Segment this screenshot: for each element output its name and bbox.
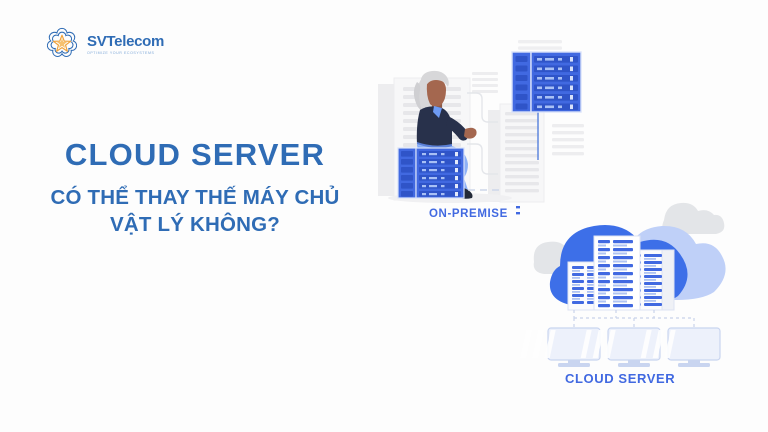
page-title: CLOUD SERVER [0,138,390,172]
cloud-server-caption: CLOUD SERVER [565,371,675,386]
grey-server-cabinet-right [488,104,544,202]
client-monitors [521,328,720,367]
subtitle-line-1: CÓ THỂ THAY THẾ MÁY CHỦ [0,184,390,211]
floating-blue-server-rack [512,52,581,112]
subtitle-line-2: VẬT LÝ KHÔNG? [0,211,390,238]
cloud-server-illustration [516,192,752,367]
cloud-server-rack-center [594,236,640,310]
hero-text-block: CLOUD SERVER CÓ THỂ THAY THẾ MÁY CHỦ VẬT… [0,138,390,238]
document-lines-right [552,124,584,155]
dashed-connectors [574,310,694,328]
blue-server-rack-stack [398,148,464,198]
brand-wordmark: SVTelecom OPTIMIZE YOUR ECOSYSTEMS [87,32,164,55]
brand-tagline: OPTIMIZE YOUR ECOSYSTEMS [87,52,164,56]
document-lines-mid [472,72,498,93]
banner-canvas: SVTelecom OPTIMIZE YOUR ECOSYSTEMS CLOUD… [0,0,768,432]
brand-name: SVTelecom [87,34,164,49]
edge-marks [516,206,520,214]
page-subtitle: CÓ THỂ THAY THẾ MÁY CHỦ VẬT LÝ KHÔNG? [0,184,390,238]
lotus-star-logo-icon [42,24,82,64]
on-premise-illustration [372,38,597,208]
brand-logo[interactable]: SVTelecom OPTIMIZE YOUR ECOSYSTEMS [42,23,192,65]
on-premise-caption: ON-PREMISE [429,208,508,220]
